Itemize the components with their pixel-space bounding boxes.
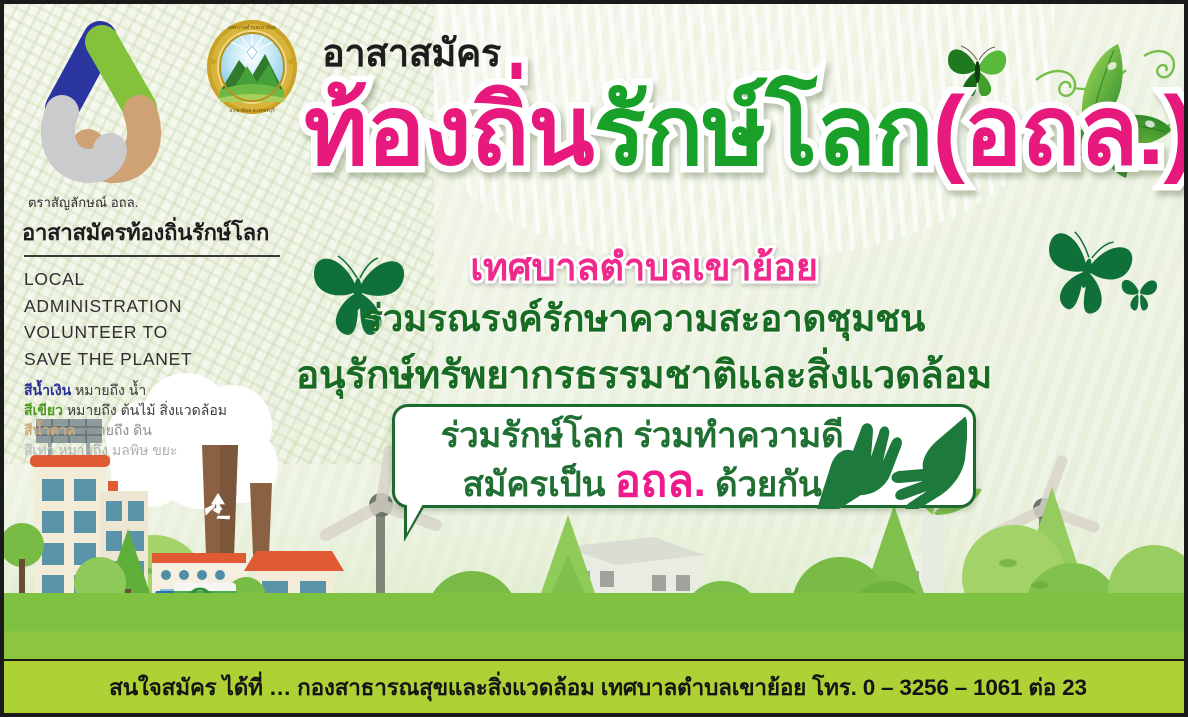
helping-hands-icon xyxy=(817,409,967,509)
poster-canvas: ตราสัญลักษณ์ อถล. อาสาสมัครท้องถิ่นรักษ์… xyxy=(0,0,1188,717)
legend-color-name-gray: สีเทา xyxy=(24,442,54,458)
municipality-name: เทศบาลตำบลเขาย้อย xyxy=(4,236,1184,297)
municipality-seal: เทศบาลตำบลเขาย้อย อ.เขาย้อย จ.เพชรบุรี xyxy=(203,16,301,116)
ground-midtone xyxy=(4,593,1188,633)
callout-highlight: อถล. xyxy=(615,457,706,506)
main-title: ท้องถิ่นรักษ์โลก(อถล.) xyxy=(304,82,1188,179)
legend-meaning-gray: หมายถึง มลพิษ ขยะ xyxy=(58,442,177,458)
aotol-logo-svg xyxy=(40,16,190,188)
callout-box: ร่วมรักษ์โลก ร่วมทำความดี สมัครเป็น อถล.… xyxy=(392,404,976,508)
emblem-caption: ตราสัญลักษณ์ อถล. xyxy=(28,192,314,213)
legend-item-gray: สีเทา หมายถึง มลพิษ ขยะ xyxy=(24,441,314,461)
aotol-logo xyxy=(40,16,190,188)
callout-line-2: สมัครเป็น อถล. ด้วยกัน xyxy=(417,456,867,508)
seal-top-text: เทศบาลตำบลเขาย้อย xyxy=(228,24,276,31)
callout-line2-after: ด้วยกัน xyxy=(706,465,822,504)
slogan-line-2: อนุรักษ์ทรัพยากรธรรมชาติและสิ่งแวดล้อม xyxy=(4,344,1184,406)
main-title-part3: (อถล.) xyxy=(933,76,1188,185)
footer-contact-text: สนใจสมัคร ได้ที่ … กองสาธารณสุขและสิ่งแว… xyxy=(109,669,1087,705)
callout-tail-inner xyxy=(407,504,423,533)
slogan-line-1: ร่วมรณรงค์รักษาความสะอาดชุมชน xyxy=(4,289,1184,348)
kicker-heading: อาสาสมัคร xyxy=(322,22,501,83)
main-title-part1: ท้องถิ่น xyxy=(304,76,594,185)
seal-bottom-text: อ.เขาย้อย จ.เพชรบุรี xyxy=(229,107,275,114)
callout-line-1: ร่วมรักษ์โลก ร่วมทำความดี xyxy=(417,415,867,456)
municipality-seal-svg: เทศบาลตำบลเขาย้อย อ.เขาย้อย จ.เพชรบุรี xyxy=(203,16,301,116)
callout-line2-before: สมัครเป็น xyxy=(462,465,614,504)
helping-hands-svg xyxy=(817,409,967,509)
legend-item-brown: สีน้ำตาล หมายถึง ดิน xyxy=(24,421,314,441)
legend-meaning-brown: หมายถึง ดิน xyxy=(79,422,151,438)
legend-color-name-brown: สีน้ำตาล xyxy=(24,422,76,438)
main-title-part2: รักษ์โลก xyxy=(594,76,933,185)
footer-bar: สนใจสมัคร ได้ที่ … กองสาธารณสุขและสิ่งแว… xyxy=(4,659,1188,713)
callout-text: ร่วมรักษ์โลก ร่วมทำความดี สมัครเป็น อถล.… xyxy=(417,415,867,508)
ground-lower xyxy=(4,631,1188,659)
